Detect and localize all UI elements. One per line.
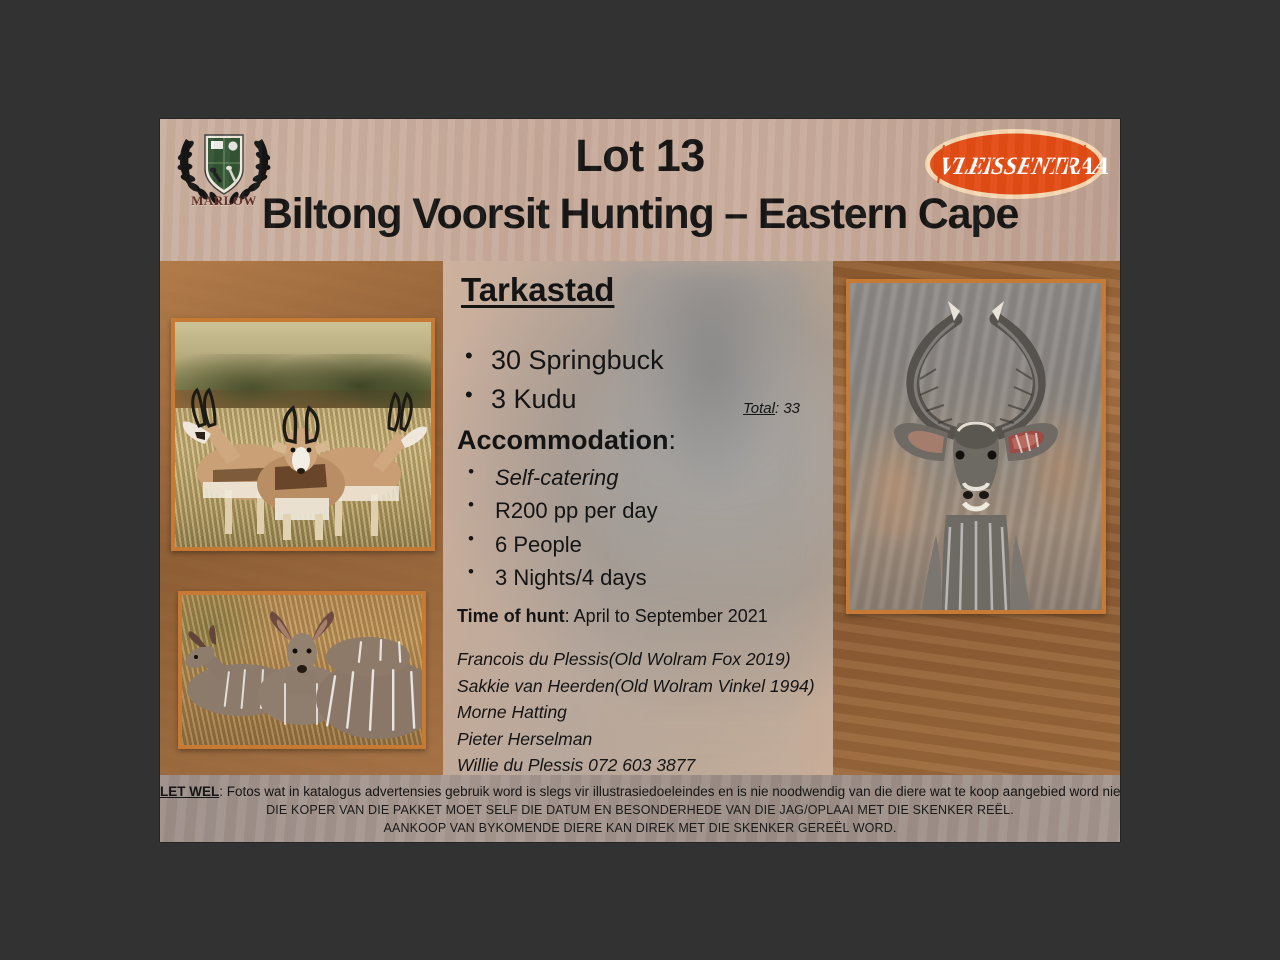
disclaimer-line-2: DIE KOPER VAN DIE PAKKET MOET SELF DIE D… bbox=[160, 803, 1120, 817]
accommodation-heading: Accommodation: bbox=[457, 425, 676, 456]
list-item: 6 People bbox=[495, 528, 658, 561]
disclaimer-line-3: AANKOOP VAN BYKOMENDE DIERE KAN DIREK ME… bbox=[160, 821, 1120, 835]
right-photo-column: SWIFT VEE Bid Online www.swiftvee.com bbox=[833, 261, 1120, 775]
list-item: 30 Springbuck bbox=[491, 341, 664, 380]
details-column: Tarkastad 30 Springbuck 3 Kudu Total: 33… bbox=[443, 261, 833, 775]
accommodation-list: Self-catering R200 pp per day 6 People 3… bbox=[457, 461, 658, 595]
auction-lot-slide: MARLOW Lot 13 Biltong Voorsit Hunting – … bbox=[160, 119, 1120, 842]
total-value: : 33 bbox=[775, 400, 800, 417]
accommodation-heading-colon: : bbox=[669, 425, 677, 455]
list-item: 3 Nights/4 days bbox=[495, 561, 658, 594]
time-of-hunt-value: : April to September 2021 bbox=[565, 606, 768, 626]
contact-item: Sakkie van Heerden(Old Wolram Vinkel 199… bbox=[457, 673, 815, 700]
list-item: 3 Kudu bbox=[491, 380, 664, 419]
list-item: R200 pp per day bbox=[495, 494, 658, 527]
notice-label: LET WEL bbox=[160, 784, 219, 799]
left-photo-column bbox=[160, 261, 443, 775]
disclaimer-line-1: LET WEL: Fotos wat in katalogus adverten… bbox=[160, 784, 1120, 799]
springbok-photo bbox=[171, 318, 435, 551]
contact-item: Morne Hatting bbox=[457, 699, 815, 726]
slide-header: MARLOW Lot 13 Biltong Voorsit Hunting – … bbox=[160, 119, 1120, 261]
list-item: Self-catering bbox=[495, 461, 658, 494]
kudu-bull-photo bbox=[846, 279, 1106, 614]
contact-item: Pieter Herselman bbox=[457, 726, 815, 753]
kudu-cows-photo bbox=[178, 591, 426, 749]
accommodation-heading-text: Accommodation bbox=[457, 425, 669, 455]
contact-list: Francois du Plessis(Old Wolram Fox 2019)… bbox=[457, 646, 815, 775]
vleissentraal-logo: VLEISSENTRAAL bbox=[922, 125, 1108, 203]
time-of-hunt: Time of hunt: April to September 2021 bbox=[457, 606, 768, 627]
contact-item: Willie du Plessis 072 603 3877 bbox=[457, 752, 815, 775]
location-heading: Tarkastad bbox=[461, 271, 614, 309]
game-species-list: 30 Springbuck 3 Kudu bbox=[461, 341, 664, 420]
time-of-hunt-label: Time of hunt bbox=[457, 606, 565, 626]
slide-body: Tarkastad 30 Springbuck 3 Kudu Total: 33… bbox=[160, 261, 1120, 775]
total-animals: Total: 33 bbox=[743, 400, 800, 417]
disclaimer-footer: LET WEL: Fotos wat in katalogus adverten… bbox=[160, 775, 1120, 842]
screenshot-canvas: MARLOW Lot 13 Biltong Voorsit Hunting – … bbox=[0, 0, 1280, 960]
notice-text: : Fotos wat in katalogus advertensies ge… bbox=[219, 784, 1120, 799]
contact-item: Francois du Plessis(Old Wolram Fox 2019) bbox=[457, 646, 815, 673]
total-label: Total bbox=[743, 400, 775, 417]
